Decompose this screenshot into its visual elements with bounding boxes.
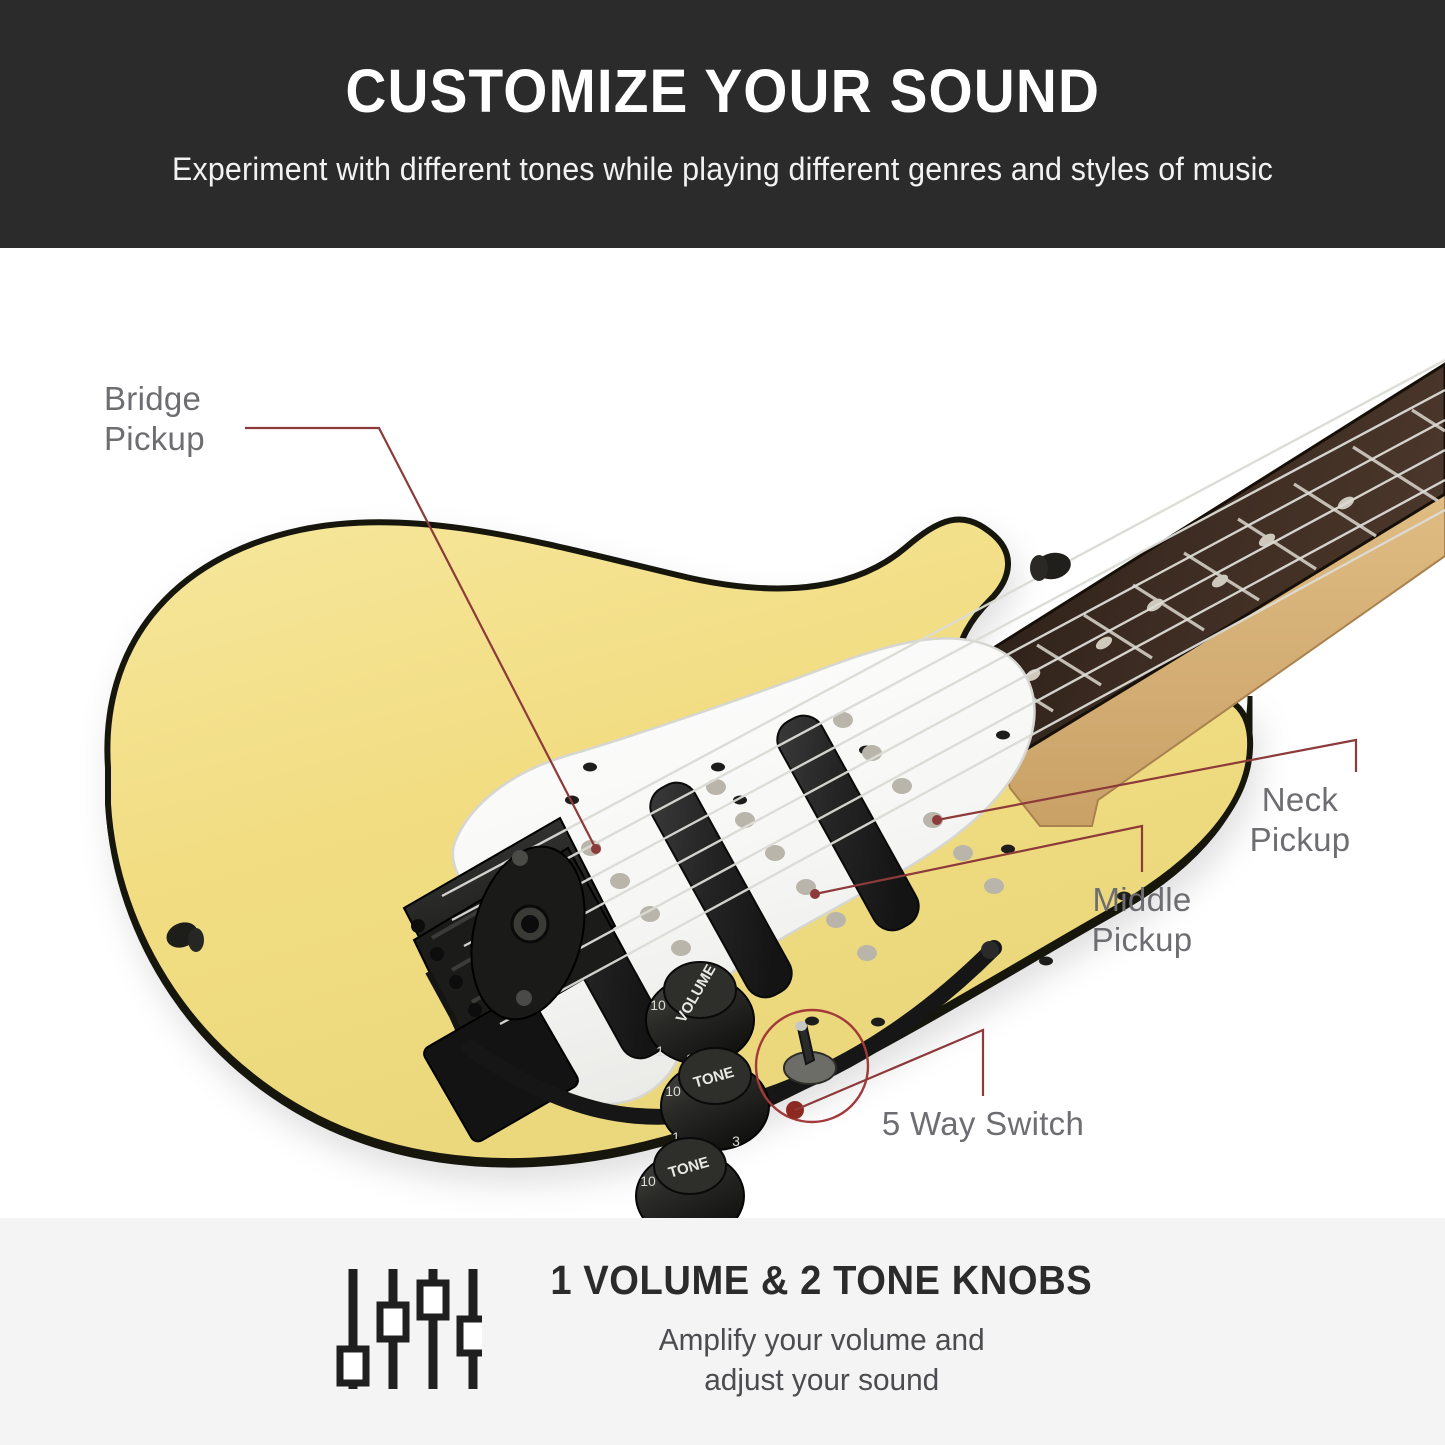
callout-label-5-way-switch: 5 Way Switch	[882, 1104, 1084, 1144]
svg-text:3: 3	[732, 1133, 740, 1149]
svg-text:1: 1	[656, 1043, 664, 1059]
footer-subtitle: Amplify your volume and adjust your soun…	[659, 1320, 985, 1401]
footer-title: 1 VOLUME & 2 TONE KNOBS	[551, 1257, 1093, 1304]
svg-text:10: 10	[665, 1083, 681, 1099]
strap-button-upper	[1030, 550, 1073, 583]
page-subtitle: Experiment with different tones while pl…	[172, 148, 1273, 190]
guitar-illustration: VOLUME 12 310 TONE 12 310 TONE	[0, 248, 1445, 1218]
footer-banner: 1 VOLUME & 2 TONE KNOBS Amplify your vol…	[0, 1218, 1445, 1445]
knob-tone-2: TONE 12 310	[636, 1138, 744, 1218]
svg-text:10: 10	[640, 1173, 656, 1189]
callout-label-middle-pickup: Middle Pickup	[1092, 880, 1193, 961]
callout-label-bridge-pickup: Bridge Pickup	[104, 379, 205, 460]
product-stage: VOLUME 12 310 TONE 12 310 TONE	[0, 248, 1445, 1218]
svg-text:10: 10	[650, 997, 666, 1013]
sliders-icon	[332, 1263, 482, 1395]
callout-label-neck-pickup: Neck Pickup	[1250, 780, 1351, 861]
header-banner: CUSTOMIZE YOUR SOUND Experiment with dif…	[0, 0, 1445, 248]
infographic-page: CUSTOMIZE YOUR SOUND Experiment with dif…	[0, 0, 1445, 1445]
page-title: CUSTOMIZE YOUR SOUND	[345, 61, 1100, 122]
